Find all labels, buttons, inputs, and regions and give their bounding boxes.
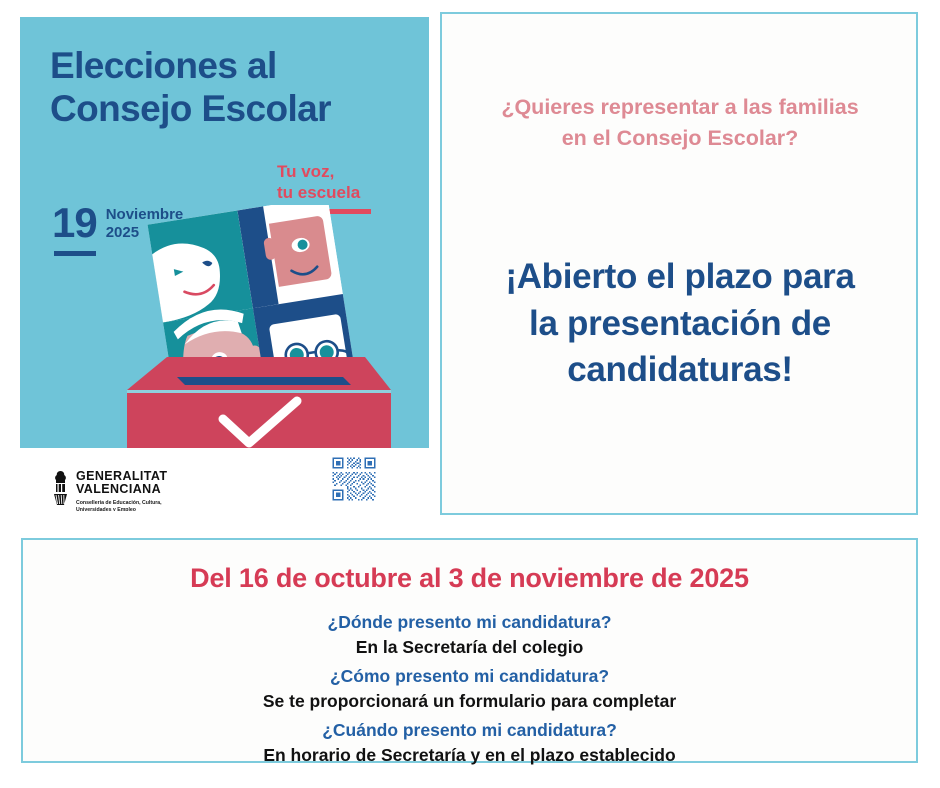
panel-headline-line-2: la presentación de: [464, 301, 896, 348]
ballot-box: [127, 357, 391, 455]
generalitat-name-line-1: GENERALITAT: [76, 470, 167, 483]
deadline-info-panel: Del 16 de octubre al 3 de noviembre de 2…: [21, 538, 918, 763]
date-underline-rule: [54, 251, 96, 256]
ballot-box-with-faces-illustration: [115, 205, 395, 455]
slogan-line-2: tu escuela: [277, 183, 397, 204]
panel-headline-line-1: ¡Abierto el plazo para: [464, 254, 896, 301]
panel-headline-line-3: candidaturas!: [464, 347, 896, 394]
face-top-left: [148, 210, 253, 322]
poster-title-line-2: Consejo Escolar: [50, 87, 390, 130]
faq-list: ¿Dónde presento mi candidatura? En la Se…: [23, 610, 916, 768]
conselleria-subtitle: Conselleria de Educación, Cultura, Unive…: [76, 500, 167, 512]
election-poster: Elecciones al Consejo Escolar Tu voz, tu…: [20, 17, 429, 511]
faq-question-1: ¿Dónde presento mi candidatura?: [23, 610, 916, 635]
faq-answer-3: En horario de Secretaría y en el plazo e…: [23, 743, 916, 768]
deadline-title: Del 16 de octubre al 3 de noviembre de 2…: [23, 563, 916, 594]
faq-question-2: ¿Cómo presento mi candidatura?: [23, 664, 916, 689]
poster-title: Elecciones al Consejo Escolar: [50, 44, 390, 131]
poster-title-line-1: Elecciones al: [50, 44, 390, 87]
faq-answer-1: En la Secretaría del colegio: [23, 635, 916, 660]
panel-question-line-2: en el Consejo Escolar?: [468, 123, 892, 154]
slogan-line-1: Tu voz,: [277, 162, 397, 183]
generalitat-valenciana-logo: GENERALITAT VALENCIANA Conselleria de Ed…: [52, 470, 167, 511]
conselleria-line-1: Conselleria de Educación, Cultura,: [76, 500, 167, 507]
call-to-action-panel: ¿Quieres representar a las familias en e…: [440, 12, 918, 515]
qr-code[interactable]: [331, 456, 377, 502]
generalitat-logo-text: GENERALITAT VALENCIANA Conselleria de Ed…: [76, 470, 167, 511]
generalitat-name: GENERALITAT VALENCIANA: [76, 470, 167, 497]
panel-headline-text: ¡Abierto el plazo para la presentación d…: [464, 254, 896, 394]
face-top-right: [237, 205, 342, 308]
poster-date-day: 19: [52, 203, 97, 242]
faq-answer-2: Se te proporcionará un formulario para c…: [23, 689, 916, 714]
generalitat-crest-icon: [52, 470, 69, 506]
conselleria-line-2: Universidades y Empleo: [76, 507, 167, 511]
generalitat-name-line-2: VALENCIANA: [76, 483, 167, 496]
panel-question-line-1: ¿Quieres representar a las familias: [468, 92, 892, 123]
faq-question-3: ¿Cuándo presento mi candidatura?: [23, 718, 916, 743]
panel-question-text: ¿Quieres representar a las familias en e…: [468, 92, 892, 153]
